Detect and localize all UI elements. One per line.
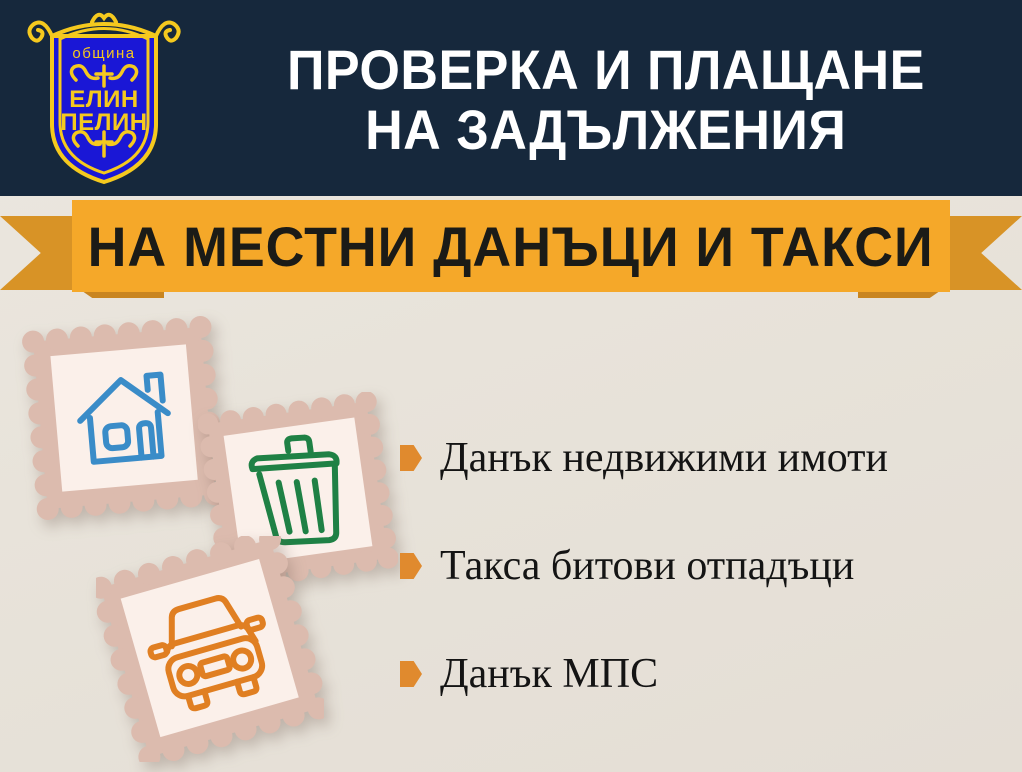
municipality-crest-logo: община ЕЛИН ПЕЛИН — [24, 6, 184, 186]
title-line-1: ПРОВЕРКА И ПЛАЩАНЕ — [287, 40, 925, 100]
bullet-arrow-icon — [400, 553, 422, 579]
list-item[interactable]: Данък МПС — [400, 646, 1010, 702]
ribbon-label: НА МЕСТНИ ДАНЪЦИ И ТАКСИ — [88, 214, 934, 279]
list-item-label: Данък МПС — [440, 653, 658, 695]
bullet-arrow-icon — [400, 445, 422, 471]
title-line-2: НА ЗАДЪЛЖЕНИЯ — [365, 100, 846, 160]
bullet-arrow-icon — [400, 661, 422, 687]
subtitle-ribbon: НА МЕСТНИ ДАНЪЦИ И ТАКСИ — [0, 196, 1022, 298]
header-banner: община ЕЛИН ПЕЛИН ПРОВЕРКА И ПЛАЩАНЕ НА … — [0, 0, 1022, 196]
services-list: Данък недвижими имоти Такса битови отпад… — [400, 430, 1010, 702]
list-item-label: Данък недвижими имоти — [440, 437, 888, 479]
crest-municipality-word: община — [72, 45, 135, 62]
stamp-car — [96, 536, 324, 762]
page-title: ПРОВЕРКА И ПЛАЩАНЕ НА ЗАДЪЛЖЕНИЯ — [190, 14, 1022, 186]
list-item[interactable]: Такса битови отпадъци — [400, 538, 1010, 594]
list-item[interactable]: Данък недвижими имоти — [400, 430, 1010, 486]
list-item-label: Такса битови отпадъци — [440, 545, 854, 587]
ribbon-body: НА МЕСТНИ ДАНЪЦИ И ТАКСИ — [72, 200, 950, 292]
crest-name-line2: ПЕЛИН — [60, 109, 147, 136]
poster-canvas: община ЕЛИН ПЕЛИН ПРОВЕРКА И ПЛАЩАНЕ НА … — [0, 0, 1022, 772]
